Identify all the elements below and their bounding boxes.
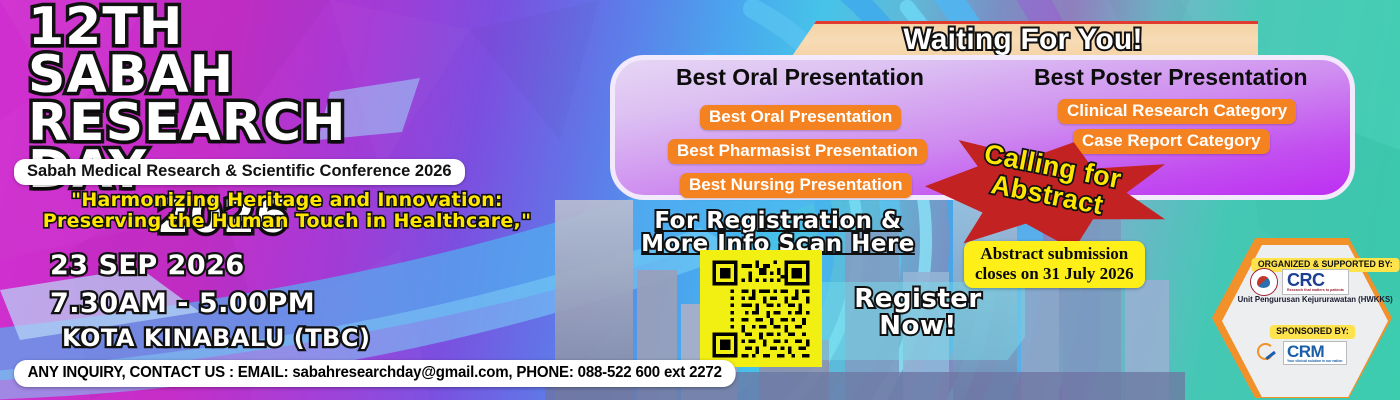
conference-banner: 12TH SABAH RESEARCH DAY 2026 Sabah Medic…: [0, 0, 1400, 400]
register-now-line-2: Now!: [828, 313, 1008, 340]
deadline-line-2: closes on 31 July 2026: [975, 264, 1134, 284]
poster-awards-heading: Best Poster Presentation: [1034, 64, 1308, 91]
award-pill-oral-1: Best Oral Presentation: [700, 105, 901, 130]
theme-line-1: "Harmonizing Heritage and Innovation:: [22, 190, 552, 211]
organized-unit-note: Unit Pengurusan Kejururawatan (HWKKS): [1238, 295, 1375, 304]
award-pill-poster-1: Clinical Research Category: [1058, 99, 1296, 124]
qr-code-box[interactable]: [700, 250, 822, 367]
waiting-banner-label: Waiting For You!: [788, 20, 1258, 60]
contact-bar: ANY INQUIRY, CONTACT US : EMAIL: sabahre…: [14, 360, 735, 387]
register-now-cta: Register Now!: [828, 286, 1008, 340]
award-pill-oral-2: Best Pharmasist Presentation: [668, 139, 927, 164]
conference-theme: "Harmonizing Heritage and Innovation: Pr…: [22, 190, 552, 233]
registration-heading-line-1: For Registration &: [628, 210, 928, 233]
sponsored-by-label: SPONSORED BY:: [1270, 325, 1356, 339]
qr-code-icon[interactable]: [709, 257, 813, 361]
crc-tagline: Research that matters to patients: [1287, 289, 1344, 293]
organized-logo-row: CRC Research that matters to patients: [1250, 268, 1349, 296]
deadline-line-1: Abstract submission: [975, 244, 1134, 264]
award-pill-poster-2: Case Report Category: [1073, 129, 1270, 154]
register-now-line-1: Register: [828, 286, 1008, 313]
sponsored-logo-row: CRM Your clinical solution in our nation: [1253, 340, 1347, 366]
title-line-1: 12TH SABAH: [28, 4, 408, 100]
theme-line-2: Preserving the Human Touch in Healthcare…: [22, 211, 552, 232]
microscope-logo-icon: [1253, 340, 1279, 366]
award-pill-oral-3: Best Nursing Presentation: [680, 173, 912, 198]
event-time: 7.30AM - 5.00PM: [50, 286, 370, 322]
crm-tagline: Your clinical solution in our nation: [1287, 360, 1343, 363]
event-date: 23 SEP 2026: [50, 248, 370, 284]
event-venue: KOTA KINABALU (TBC): [50, 323, 370, 355]
event-details: 23 SEP 2026 7.30AM - 5.00PM KOTA KINABAL…: [50, 248, 370, 355]
oral-awards-heading: Best Oral Presentation: [676, 64, 924, 91]
conference-name-pill: Sabah Medical Research & Scientific Conf…: [14, 159, 465, 185]
abstract-deadline-badge: Abstract submission closes on 31 July 20…: [964, 241, 1145, 288]
moh-logo-icon: [1250, 268, 1278, 296]
crm-logo-icon: CRM Your clinical solution in our nation: [1283, 341, 1347, 365]
crc-logo-icon: CRC Research that matters to patients: [1282, 269, 1349, 295]
